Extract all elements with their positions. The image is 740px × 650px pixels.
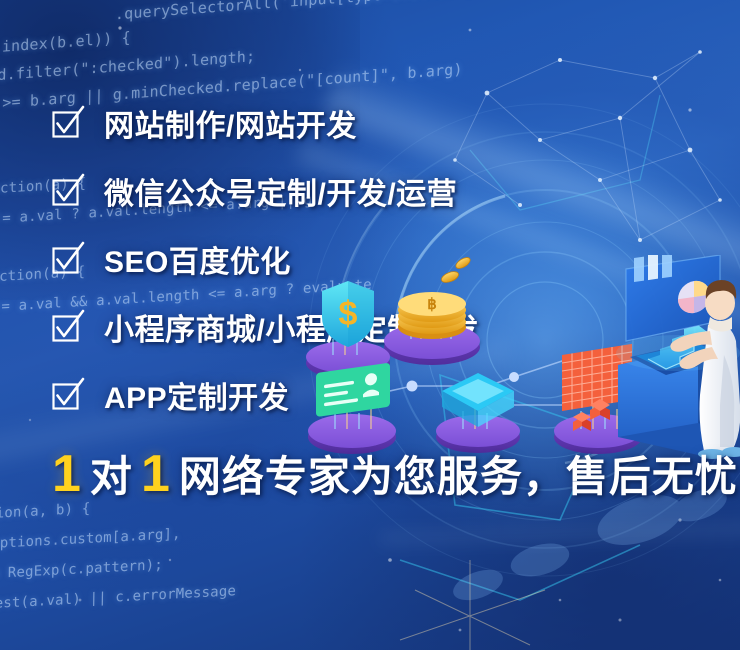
promo-banner: .querySelectorAll('input[type=checkbox]'…: [0, 0, 740, 650]
shield-security-icon: $: [306, 281, 390, 379]
data-analytics-illustration: ฿ $: [300, 255, 740, 470]
feature-label: 网站制作/网站开发: [104, 101, 357, 145]
headline-middle-word: 对: [90, 456, 132, 498]
checkbox-checked-icon[interactable]: [52, 380, 82, 410]
feature-item-website[interactable]: 网站制作/网站开发: [52, 100, 692, 146]
checkbox-checked-icon[interactable]: [52, 108, 82, 138]
headline-number-first: 1: [52, 448, 81, 500]
checkbox-checked-icon[interactable]: [52, 312, 82, 342]
headline-number-second: 1: [141, 448, 170, 500]
checkbox-checked-icon[interactable]: [52, 244, 82, 274]
headline: 1 对 1 网络专家为您服务，售后无忧！: [52, 448, 740, 500]
cyan-chip-icon: [436, 373, 520, 453]
checkbox-checked-icon[interactable]: [52, 176, 82, 206]
green-card-icon: [308, 363, 396, 454]
coin-stack-icon: ฿: [384, 255, 480, 365]
svg-text:$: $: [339, 295, 358, 333]
feature-item-wechat[interactable]: 微信公众号定制/开发/运营: [52, 168, 692, 214]
feature-label: APP定制开发: [104, 373, 289, 417]
headline-tagline: 网络专家为您服务，售后无忧！: [179, 456, 740, 498]
feature-label: 微信公众号定制/开发/运营: [104, 169, 457, 213]
svg-text:฿: ฿: [427, 296, 437, 313]
feature-label: SEO百度优化: [104, 237, 291, 281]
